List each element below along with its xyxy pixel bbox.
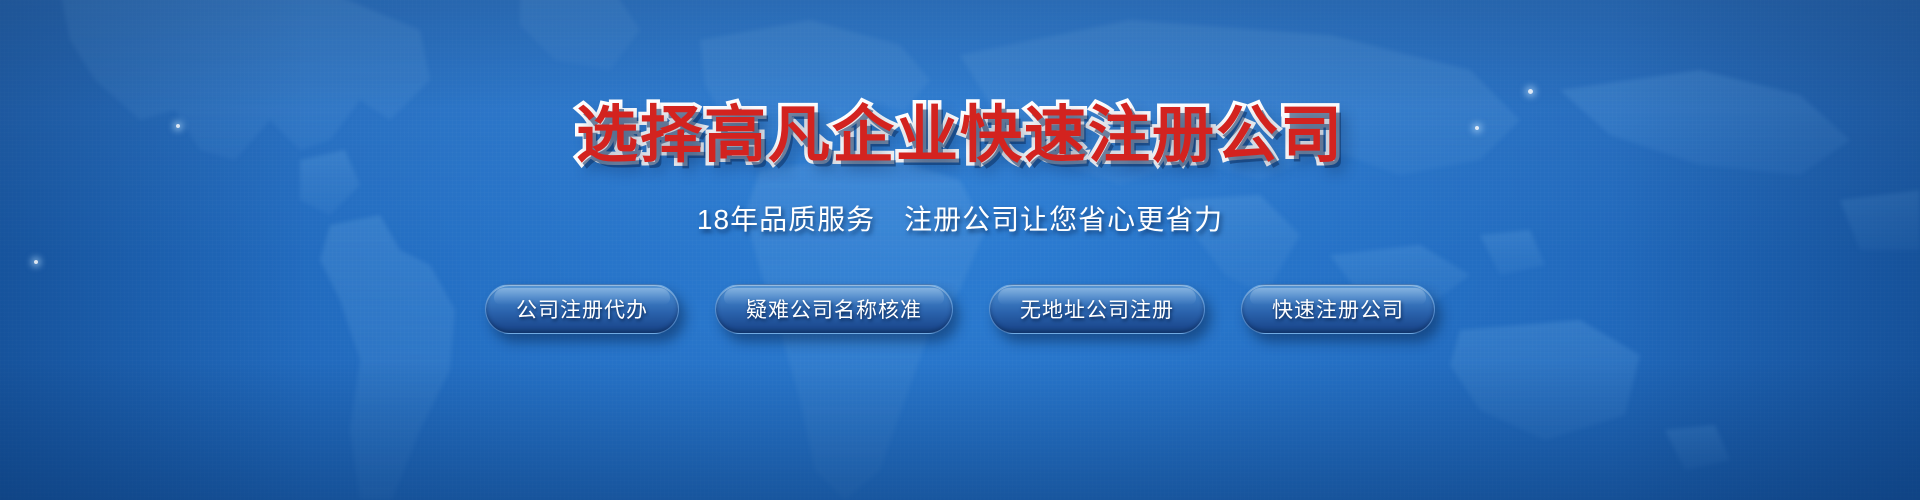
page-subtitle: 18年品质服务 注册公司让您省心更省力	[697, 198, 1223, 238]
promo-banner: 选择高凡企业快速注册公司 18年品质服务 注册公司让您省心更省力 公司注册代办 …	[0, 0, 1920, 500]
banner-content: 选择高凡企业快速注册公司 18年品质服务 注册公司让您省心更省力 公司注册代办 …	[0, 0, 1920, 500]
service-tag-difficult-name-approval[interactable]: 疑难公司名称核准	[715, 284, 953, 334]
service-tag-fast-registration[interactable]: 快速注册公司	[1241, 284, 1435, 334]
service-tag-no-address-registration[interactable]: 无地址公司注册	[989, 284, 1205, 334]
page-title: 选择高凡企业快速注册公司	[576, 104, 1344, 166]
service-tag-list: 公司注册代办 疑难公司名称核准 无地址公司注册 快速注册公司	[485, 284, 1435, 334]
service-tag-company-registration-agency[interactable]: 公司注册代办	[485, 284, 679, 334]
